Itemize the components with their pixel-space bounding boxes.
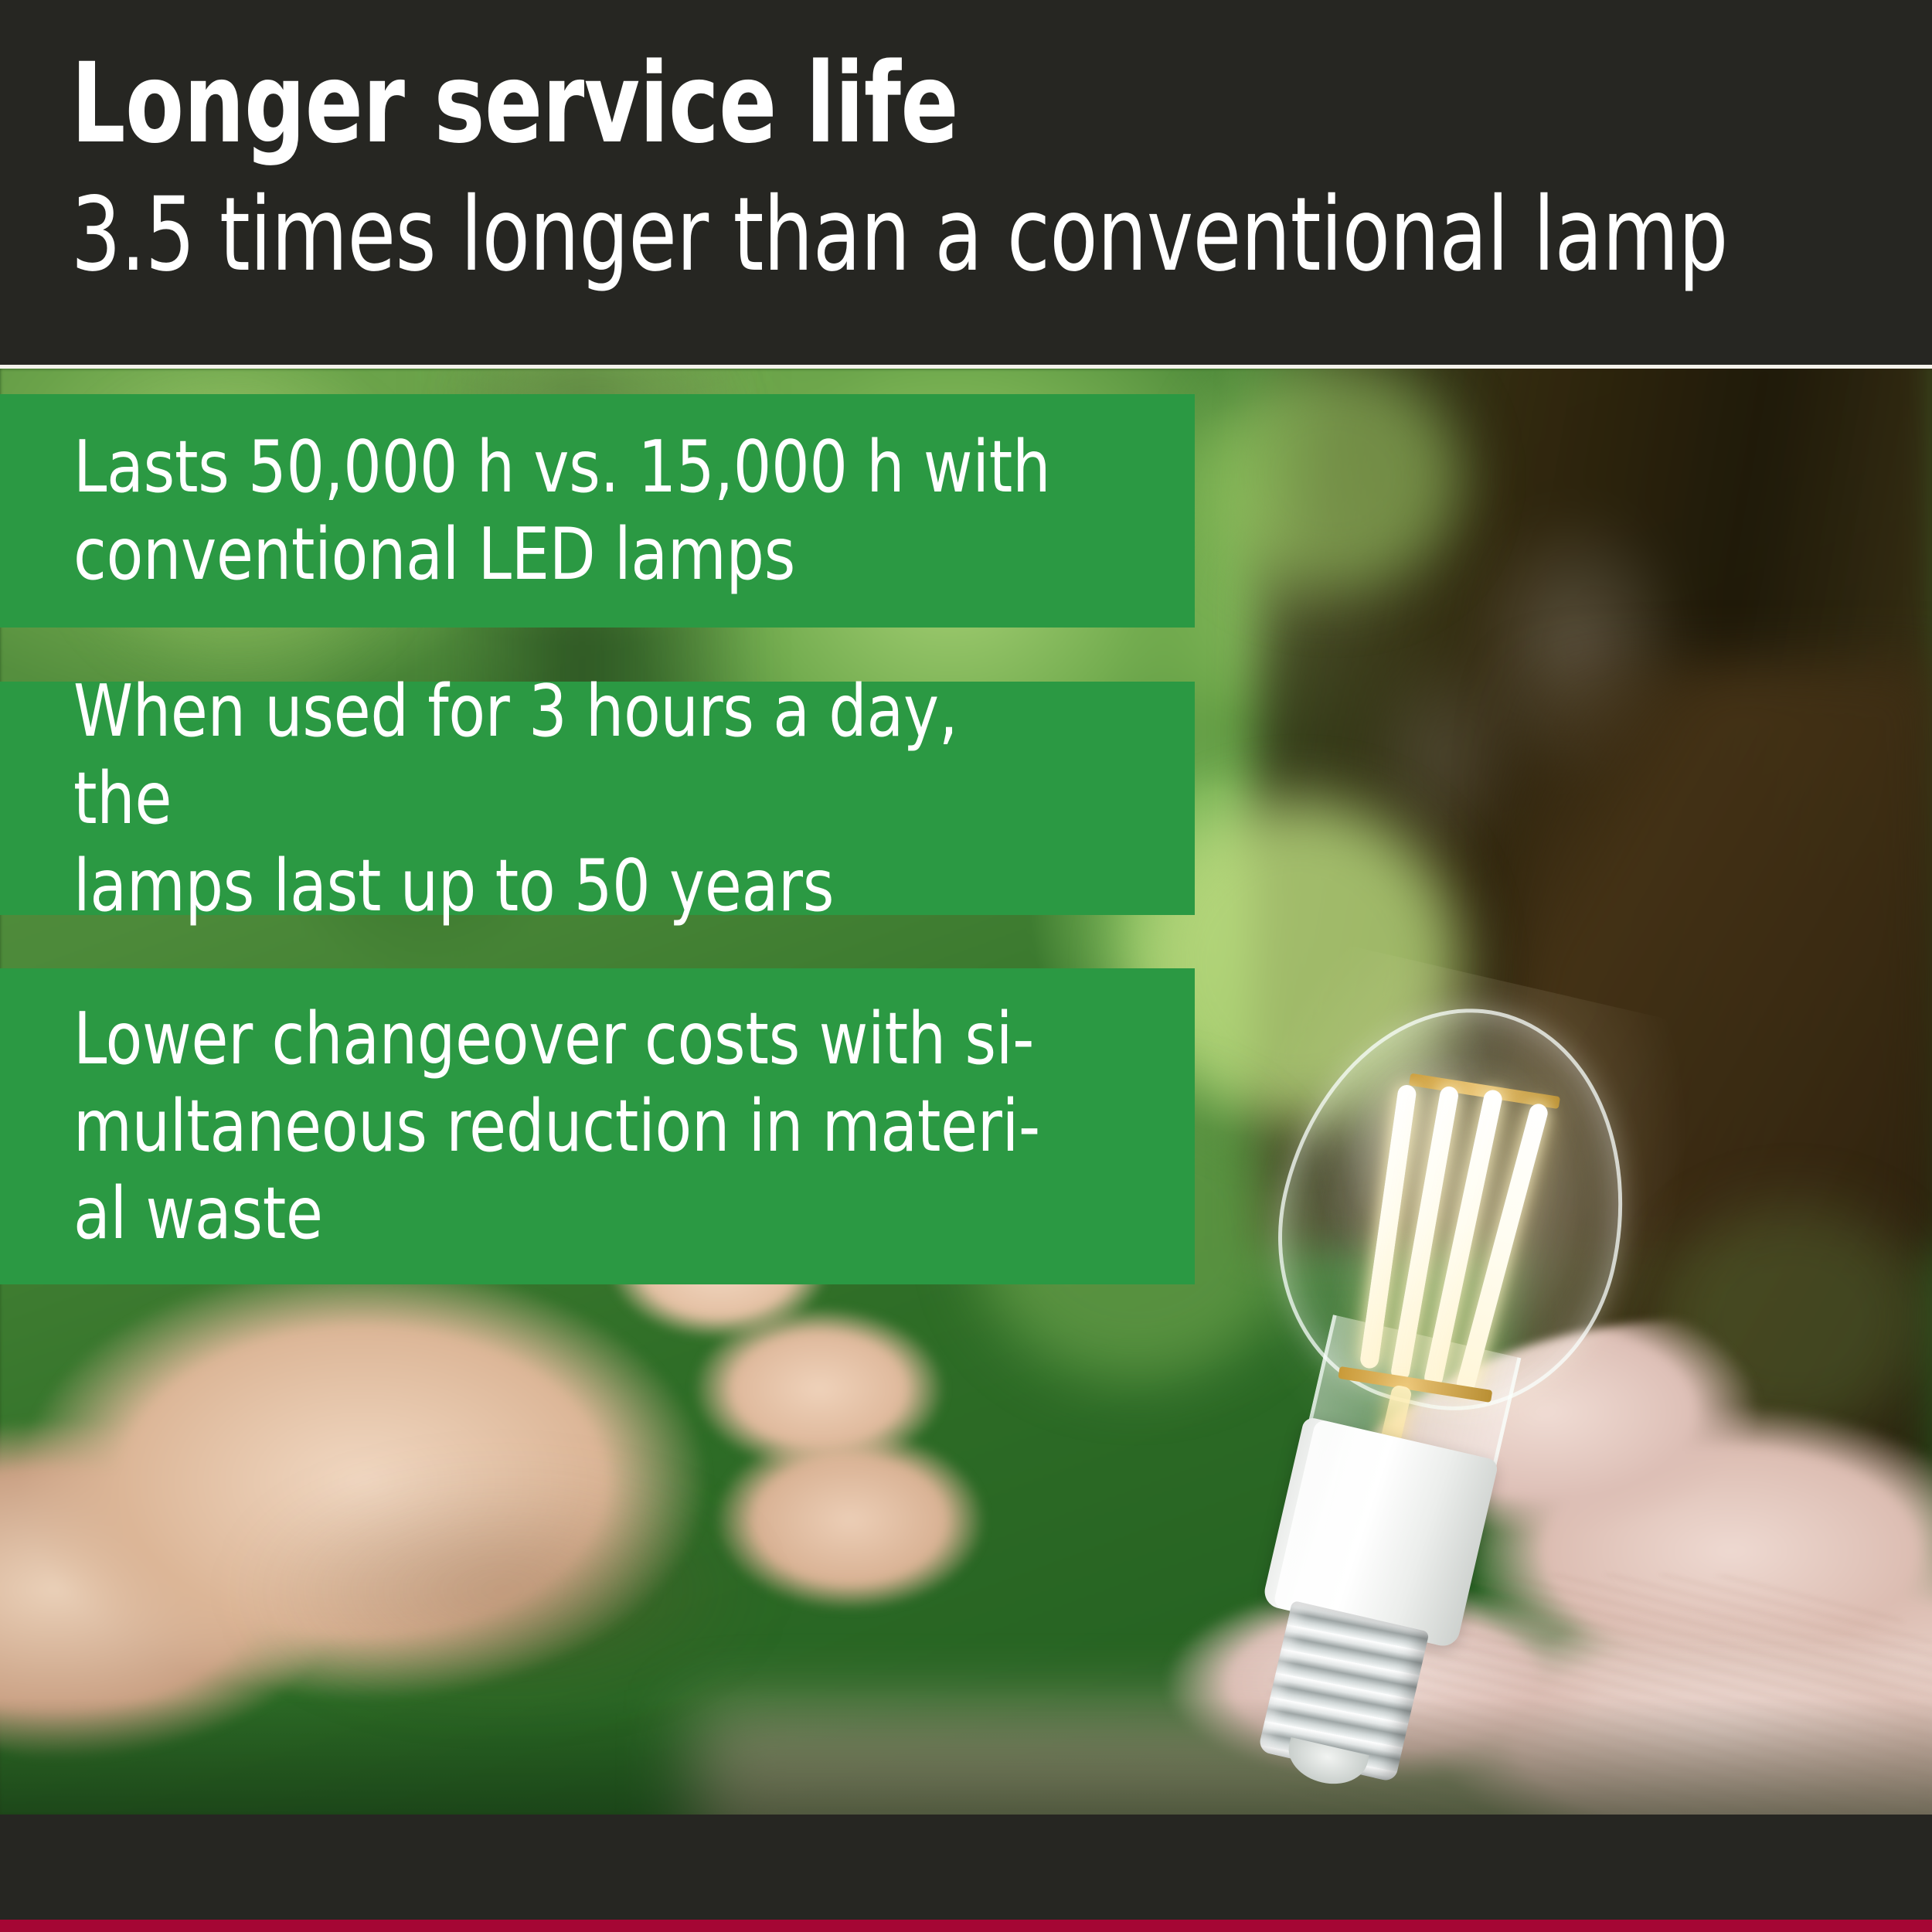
feature-box-1: Lasts 50,000 h vs. 15,000 h with convent… [0,394,1195,628]
poster-canvas: Lasts 50,000 h vs. 15,000 h with convent… [0,0,1932,1932]
feature-text-2: When used for 3 hours a day, the lamps l… [73,668,1073,930]
header-divider-rule [0,365,1932,369]
feature-box-3: Lower changeover costs with si- multaneo… [0,968,1195,1284]
footer-bar [0,1815,1932,1920]
page-subtitle: 3.5 times longer than a conventional lam… [71,184,1728,286]
page-title: Longer service life [71,48,958,158]
feature-text-3: Lower changeover costs with si- multaneo… [73,995,1073,1257]
bokeh-blob [1206,369,1461,593]
feature-box-2: When used for 3 hours a day, the lamps l… [0,682,1195,915]
photo-bottom-vignette [0,1698,1932,1815]
feature-text-1: Lasts 50,000 h vs. 15,000 h with convent… [73,423,1073,598]
header-bar: Longer service life 3.5 times longer tha… [0,0,1932,365]
footer-accent-stripe [0,1920,1932,1932]
